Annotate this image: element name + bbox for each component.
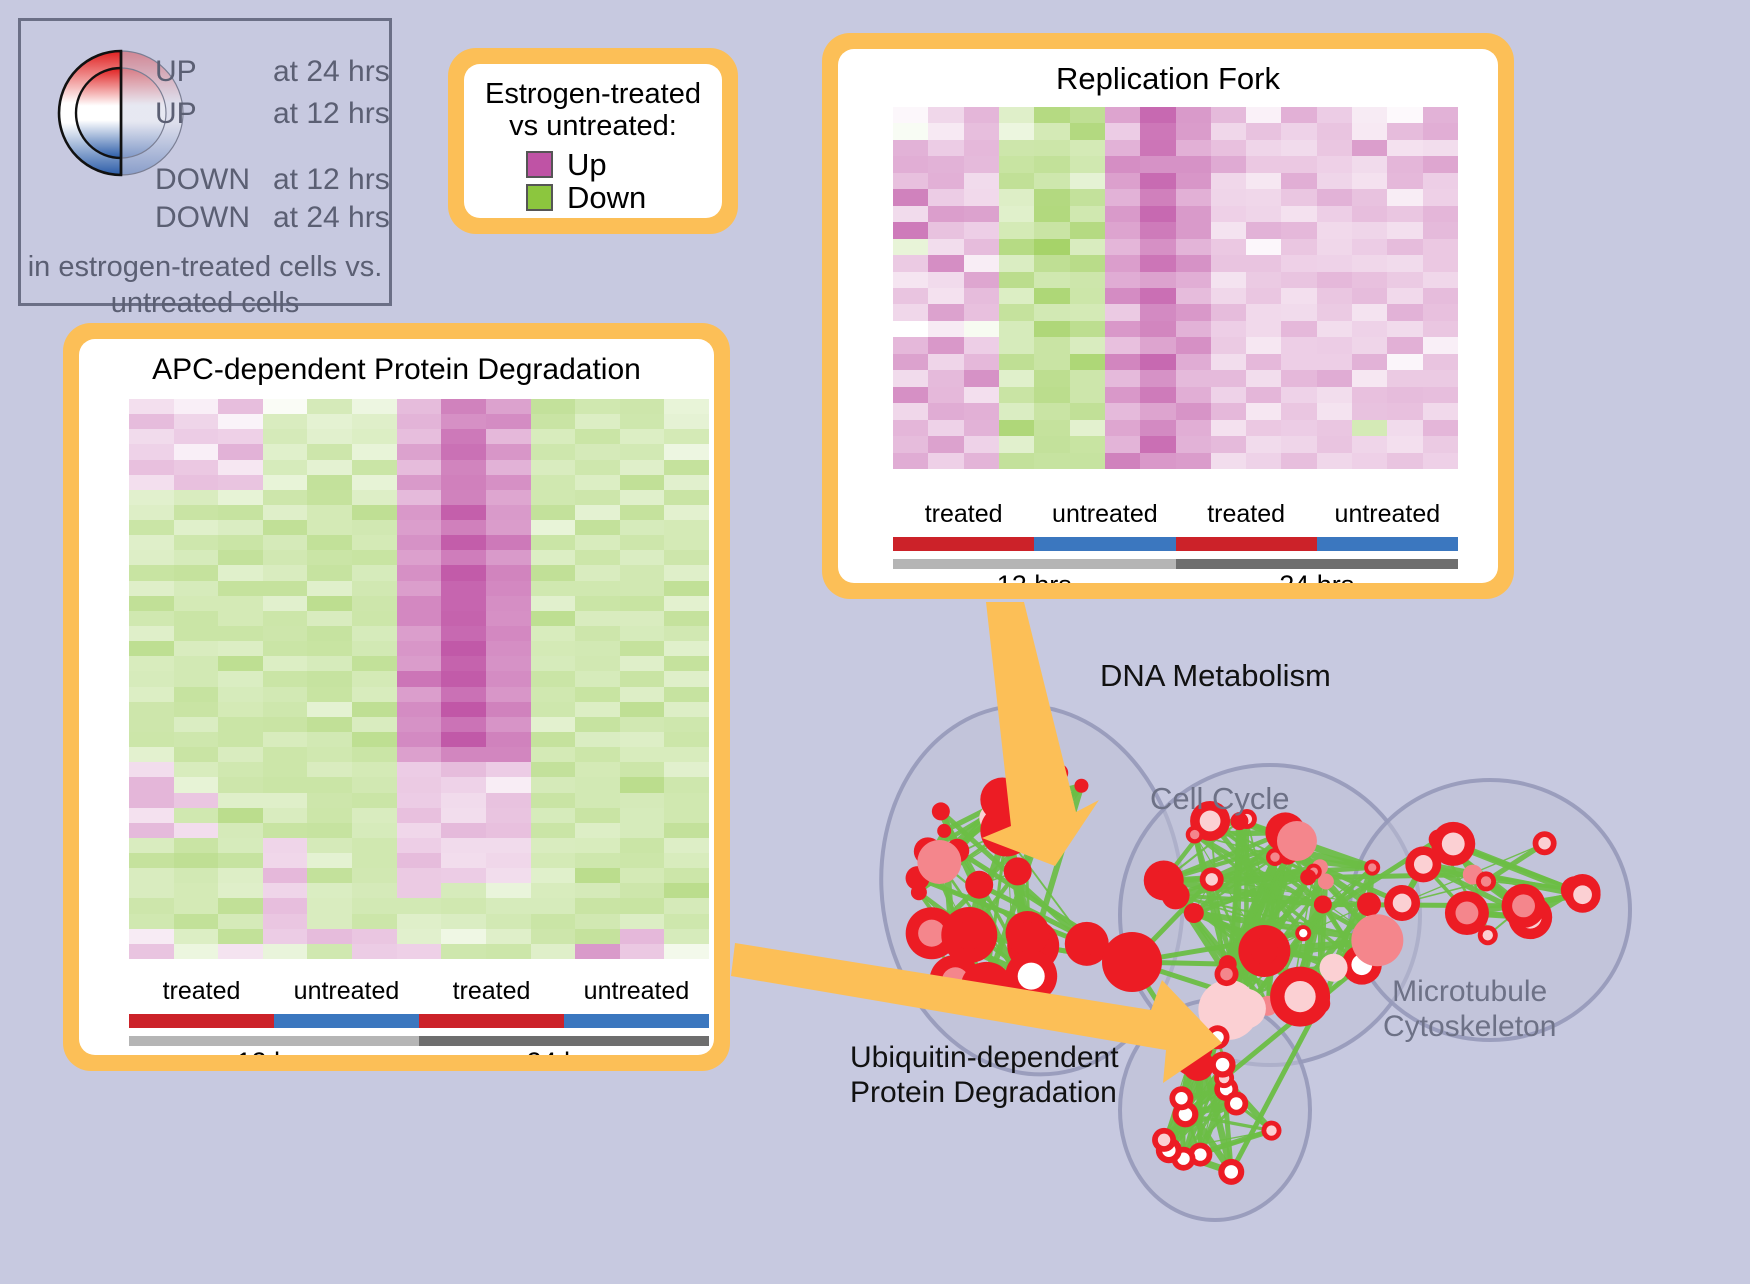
treatment-segment (274, 1014, 419, 1028)
heatmap-cell (218, 777, 263, 792)
network-node[interactable] (937, 824, 951, 838)
heatmap-cell (928, 173, 963, 189)
heatmap-cell (1352, 304, 1387, 320)
heatmap-cell (928, 222, 963, 238)
heatmap-cell (575, 747, 620, 762)
heatmap-cell (893, 387, 928, 403)
heatmap-cell (307, 520, 352, 535)
heatmap-cell (352, 656, 397, 671)
group-label: untreated (1317, 500, 1458, 529)
network-node[interactable] (1162, 881, 1190, 909)
heatmap-cell (1070, 436, 1105, 452)
heatmap-cell (1070, 453, 1105, 469)
heatmap-cell (1246, 420, 1281, 436)
heatmap-cell (352, 505, 397, 520)
heatmap-cell (999, 239, 1034, 255)
heatmap-cell (1281, 321, 1316, 337)
heatmap-cell (486, 777, 531, 792)
heatmap-cell (664, 444, 709, 459)
heatmap-cell (1281, 420, 1316, 436)
heatmap-cell (893, 222, 928, 238)
heatmap-cell (1105, 304, 1140, 320)
heatmap-cell (307, 883, 352, 898)
network-node-core (1220, 968, 1232, 980)
heatmap-cell (486, 581, 531, 596)
heatmap-cell (307, 717, 352, 732)
heatmap-cell (1034, 354, 1069, 370)
heatmap-cell (397, 777, 442, 792)
heatmap-cell (575, 687, 620, 702)
heatmap-cell (531, 671, 576, 686)
heatmap-cell (263, 747, 308, 762)
heatmap-cell (575, 793, 620, 808)
heatmap-cell (1034, 156, 1069, 172)
network-node-core (1393, 894, 1412, 913)
network-node[interactable] (961, 962, 1013, 1014)
heatmap-cell (1387, 354, 1422, 370)
wheel-legend-value: at 24 hrs (273, 203, 390, 233)
heatmap-cell (486, 520, 531, 535)
heatmap-cell (531, 626, 576, 641)
heatmap-cell (1317, 453, 1352, 469)
network-node[interactable] (1184, 903, 1204, 923)
heatmap-cell (441, 777, 486, 792)
heatmap-cell (1034, 189, 1069, 205)
heatmap-cell (531, 853, 576, 868)
time-label: 12 hrs (893, 570, 1176, 583)
heatmap-cell (999, 206, 1034, 222)
heatmap-cell (218, 823, 263, 838)
network-node-core (1442, 832, 1465, 855)
heatmap-cell (928, 453, 963, 469)
heatmap-cell (174, 702, 219, 717)
heatmap-cell (486, 793, 531, 808)
heatmap-cell (664, 762, 709, 777)
heatmap-cell (1387, 304, 1422, 320)
group-label: treated (419, 977, 564, 1006)
heatmap-cell (1211, 370, 1246, 386)
heatmap-cell (1211, 140, 1246, 156)
heatmap-cell (531, 429, 576, 444)
heatmap-cell (1211, 436, 1246, 452)
heatmap-cell (263, 868, 308, 883)
heatmap-cell (1105, 140, 1140, 156)
heatmap-cell (218, 853, 263, 868)
heatmap-cell (352, 671, 397, 686)
heatmap-cell (1317, 288, 1352, 304)
heatmap-cell (129, 414, 174, 429)
heatmap-cell (575, 853, 620, 868)
heatmap-cell (1352, 453, 1387, 469)
heatmap-cell (174, 793, 219, 808)
heatmap-cell (964, 370, 999, 386)
heatmap-cell (1317, 222, 1352, 238)
heatmap-cell (352, 641, 397, 656)
network-node[interactable] (1277, 821, 1317, 861)
heatmap-cell (893, 453, 928, 469)
heatmap-cell (441, 520, 486, 535)
heatmap-cell (531, 732, 576, 747)
heatmap-cell (174, 429, 219, 444)
heatmap-cell (218, 656, 263, 671)
heatmap-cell (218, 914, 263, 929)
heatmap-cell (1317, 272, 1352, 288)
heatmap-cell (352, 823, 397, 838)
heatmap-cell (1105, 272, 1140, 288)
heatmap-cell (174, 853, 219, 868)
heatmap-cell (1423, 436, 1458, 452)
heatmap-cell (1211, 304, 1246, 320)
heatmap-cell (1246, 403, 1281, 419)
heatmap-cell (575, 414, 620, 429)
heatmap-cell (352, 883, 397, 898)
heatmap-cell (218, 838, 263, 853)
cluster-label-ubiquitin-degradation: Ubiquitin-dependent Protein Degradation (850, 1041, 1119, 1110)
heatmap-cell (263, 399, 308, 414)
wheel-legend-value: at 24 hrs (273, 57, 390, 87)
heatmap-cell (1211, 123, 1246, 139)
network-node[interactable] (1102, 932, 1162, 992)
heatmap-cell (999, 123, 1034, 139)
heatmap-cell (531, 747, 576, 762)
heatmap-cell (1176, 140, 1211, 156)
heatmap-cell (1140, 304, 1175, 320)
heatmap-cell (1352, 173, 1387, 189)
heatmap-cell (1070, 173, 1105, 189)
heatmap-cell (1176, 370, 1211, 386)
heatmap-cell (964, 107, 999, 123)
heatmap-cell (1246, 107, 1281, 123)
heatmap-cell (397, 883, 442, 898)
heatmap-cell (664, 535, 709, 550)
heatmap-cell (1034, 140, 1069, 156)
heatmap-cell (664, 883, 709, 898)
heatmap-cell (174, 490, 219, 505)
heatmap-cell (1176, 436, 1211, 452)
heatmap-cell (486, 717, 531, 732)
group-label: untreated (564, 977, 709, 1006)
heatmap-cell (620, 823, 665, 838)
heatmap-cell (664, 460, 709, 475)
heatmap-cell (1176, 173, 1211, 189)
heatmap-cell (1140, 288, 1175, 304)
wheel-legend-key: UP (155, 57, 273, 87)
heatmap-cell (129, 717, 174, 732)
heatmap-cell (1105, 206, 1140, 222)
heatmap-cell (441, 687, 486, 702)
heatmap-cell (129, 505, 174, 520)
heatmap-cell (1070, 304, 1105, 320)
heatmap-cell (1317, 239, 1352, 255)
heatmap-cell (999, 222, 1034, 238)
heatmap-cell (664, 671, 709, 686)
heatmap-cell (620, 793, 665, 808)
network-node-core (1483, 930, 1493, 940)
heatmap-cell (620, 641, 665, 656)
heatmap-cell (928, 140, 963, 156)
heatmap-cell (1387, 206, 1422, 222)
heatmap-cell (397, 929, 442, 944)
heatmap-cell (1176, 337, 1211, 353)
heatmap-cell (397, 460, 442, 475)
network-node[interactable] (1314, 895, 1332, 913)
heatmap-cell (999, 387, 1034, 403)
timepoint-segment (1176, 559, 1459, 569)
heatmap-cell (664, 944, 709, 959)
heatmap-cell (620, 399, 665, 414)
heatmap-cell (1281, 370, 1316, 386)
heatmap-cell (397, 429, 442, 444)
heatmap-cell (664, 929, 709, 944)
heatmap-cell (964, 123, 999, 139)
heatmap-cell (999, 255, 1034, 271)
heatmap-cell (129, 929, 174, 944)
heatmap-cell (1352, 255, 1387, 271)
wheel-legend-key: UP (155, 99, 273, 129)
timepoint-segment (893, 559, 1176, 569)
heatmap-cell (352, 702, 397, 717)
heatmap-cell (620, 929, 665, 944)
network-node-core (955, 920, 984, 949)
heatmap-cell (531, 460, 576, 475)
heatmap-cell (1176, 255, 1211, 271)
heatmap-cell (218, 565, 263, 580)
heatmap-cell (129, 762, 174, 777)
heatmap-cell (1317, 123, 1352, 139)
heatmap-cell (1281, 403, 1316, 419)
wheel-legend-row: UP at 24 hrs (155, 57, 390, 87)
heatmap-cell (575, 460, 620, 475)
heatmap-cell (263, 565, 308, 580)
heatmap-cell (1070, 140, 1105, 156)
heatmap-cell (397, 914, 442, 929)
heatmap-cell (575, 399, 620, 414)
heatmap-cell (397, 823, 442, 838)
heatmap-cell (441, 914, 486, 929)
heatmap-cell (1423, 354, 1458, 370)
heatmap-cell (352, 626, 397, 641)
heatmap-cell (486, 550, 531, 565)
heatmap-cell (664, 868, 709, 883)
heatmap-cell (575, 732, 620, 747)
network-node[interactable] (1320, 954, 1348, 982)
heatmap-cell (1387, 255, 1422, 271)
heatmap-cell (129, 808, 174, 823)
network-node[interactable] (1004, 857, 1032, 885)
heatmap-cell (1034, 288, 1069, 304)
heatmap-cell (531, 656, 576, 671)
heatmap-cell (129, 914, 174, 929)
heatmap-cell (1140, 123, 1175, 139)
treatment-segment (564, 1014, 709, 1028)
heatmap-cell (1423, 304, 1458, 320)
heatmap-cell (531, 505, 576, 520)
heatmap-cell (174, 762, 219, 777)
heatmap-cell (352, 853, 397, 868)
heatmap-cell (441, 732, 486, 747)
network-node[interactable] (1351, 914, 1403, 966)
heatmap-cell (531, 777, 576, 792)
heatmap-cell (218, 429, 263, 444)
network-node-core (1194, 1148, 1206, 1160)
heatmap-cell (928, 304, 963, 320)
heatmap-cell (263, 581, 308, 596)
heatmap-cell (218, 444, 263, 459)
heatmap-cell (964, 156, 999, 172)
heatmap-cell (486, 687, 531, 702)
heatmap-cell (352, 460, 397, 475)
heatmap-cell (1246, 173, 1281, 189)
heatmap-cell (531, 717, 576, 732)
heatmap-cell (620, 702, 665, 717)
time-label: 24 hrs (1176, 570, 1459, 583)
network-node[interactable] (1357, 892, 1381, 916)
treatment-color-bar (893, 537, 1458, 551)
heatmap-cell (218, 717, 263, 732)
heatmap-cell (397, 611, 442, 626)
heatmap-cell (129, 429, 174, 444)
heatmap-cell (928, 354, 963, 370)
heatmap-cell (218, 475, 263, 490)
heatmap-cell (441, 414, 486, 429)
heatmap-cell (1423, 337, 1458, 353)
heatmap-cell (441, 565, 486, 580)
heatmap-cell (1140, 173, 1175, 189)
heatmap-cell (397, 687, 442, 702)
network-node[interactable] (965, 871, 993, 899)
heatmap-cell (397, 717, 442, 732)
heatmap-cell (1176, 387, 1211, 403)
heatmap-cell (1070, 420, 1105, 436)
heatmap-cell (486, 611, 531, 626)
network-node[interactable] (917, 840, 961, 884)
heatmap-cell (307, 898, 352, 913)
heatmap-cell (307, 535, 352, 550)
heatmap-cell (928, 436, 963, 452)
heatmap-cell (531, 581, 576, 596)
heatmap-cell (129, 883, 174, 898)
heatmap-cell (1140, 370, 1175, 386)
heatmap-cell (620, 460, 665, 475)
heatmap-cell (218, 702, 263, 717)
up-color-swatch (526, 151, 553, 178)
heatmap-cell (486, 460, 531, 475)
heatmap-cell (174, 732, 219, 747)
heatmap-cell (129, 898, 174, 913)
network-node-core (1284, 981, 1315, 1012)
network-node-core (1304, 873, 1312, 881)
heatmap-cell (1105, 189, 1140, 205)
heatmap-cell (1140, 107, 1175, 123)
heatmap-cell (307, 823, 352, 838)
heatmap-cell (1317, 420, 1352, 436)
heatmap-cell (263, 460, 308, 475)
heatmap-cell (575, 505, 620, 520)
heatmap-cell (263, 823, 308, 838)
heatmap-cell (1034, 222, 1069, 238)
heatmap-cell (1387, 173, 1422, 189)
treatment-color-bar (129, 1014, 709, 1028)
heatmap-cell (1246, 272, 1281, 288)
heatmap-cell (1246, 321, 1281, 337)
network-node[interactable] (911, 884, 927, 900)
wheel-legend-value: at 12 hrs (273, 165, 390, 195)
heatmap-cell (1211, 354, 1246, 370)
heatmap-cell (218, 550, 263, 565)
heatmap-cell (999, 354, 1034, 370)
heatmap-cell (928, 123, 963, 139)
network-node[interactable] (1182, 1049, 1214, 1081)
wheel-legend-row: UP at 12 hrs (155, 99, 390, 129)
up-down-legend-title: Estrogen-treated vs untreated: (474, 78, 712, 143)
heatmap-cell (664, 641, 709, 656)
network-node-core (1032, 1002, 1042, 1012)
heatmap-cell (174, 944, 219, 959)
heatmap-cell (263, 505, 308, 520)
heatmap-cell (218, 671, 263, 686)
heatmap-cell (1105, 173, 1140, 189)
timepoint-segment (419, 1036, 709, 1046)
heatmap-cell (964, 206, 999, 222)
heatmap-cell (1246, 304, 1281, 320)
heatmap-cell (486, 656, 531, 671)
heatmap-cell (999, 370, 1034, 386)
heatmap-cell (352, 444, 397, 459)
heatmap-cell (352, 944, 397, 959)
heatmap-cell (486, 626, 531, 641)
pathway-network-graph: DNA Metabolism Cell Cycle Microtubule Cy… (800, 610, 1750, 1279)
heatmap-cell (928, 189, 963, 205)
heatmap-cell (620, 732, 665, 747)
network-node[interactable] (1050, 764, 1068, 782)
heatmap-cell (441, 853, 486, 868)
heatmap-cell (174, 399, 219, 414)
heatmap-cell (893, 173, 928, 189)
heatmap-cell (307, 671, 352, 686)
heatmap-cell (1034, 387, 1069, 403)
heatmap-cell (1211, 403, 1246, 419)
heatmap-cell (218, 414, 263, 429)
heatmap-cell (263, 853, 308, 868)
group-label: untreated (274, 977, 419, 1006)
heatmap-cell (964, 255, 999, 271)
heatmap-cell (1034, 272, 1069, 288)
heatmap-cell (441, 944, 486, 959)
heatmap-cell (620, 520, 665, 535)
heatmap-cell (486, 444, 531, 459)
heatmap-cell (352, 581, 397, 596)
heatmap-cell (893, 288, 928, 304)
heatmap-cell (575, 656, 620, 671)
heatmap-cell (486, 914, 531, 929)
heatmap-cell (1211, 173, 1246, 189)
heatmap-cell (129, 535, 174, 550)
heatmap-cell (999, 337, 1034, 353)
network-node[interactable] (1226, 989, 1266, 1029)
heatmap-cell (1423, 206, 1458, 222)
heatmap-cell (664, 732, 709, 747)
heatmap-cell (1034, 420, 1069, 436)
heatmap-cell (441, 717, 486, 732)
network-node[interactable] (1074, 779, 1088, 793)
heatmap-cell (352, 429, 397, 444)
heatmap-cell (928, 255, 963, 271)
heatmap-cell (352, 898, 397, 913)
heatmap-cell (441, 793, 486, 808)
time-label: 24 hrs (419, 1047, 709, 1055)
heatmap-cell (397, 747, 442, 762)
network-node-core (936, 807, 945, 816)
